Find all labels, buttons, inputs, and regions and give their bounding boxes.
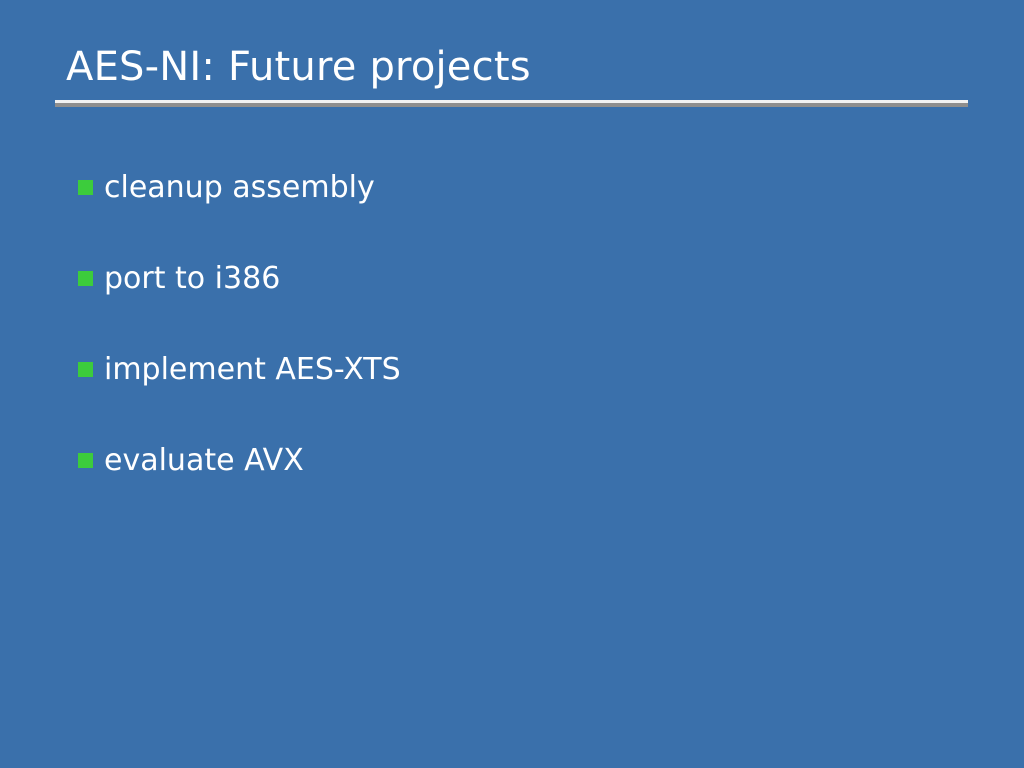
list-item-label: implement AES-XTS xyxy=(104,350,401,390)
list-item: implement AES-XTS xyxy=(78,350,958,441)
square-bullet-icon xyxy=(78,180,93,195)
list-item: evaluate AVX xyxy=(78,441,958,532)
square-bullet-icon xyxy=(78,362,93,377)
title-divider-shadow xyxy=(55,103,968,107)
list-item: port to i386 xyxy=(78,259,958,350)
page-title: AES-NI: Future projects xyxy=(55,38,968,96)
slide-title-block: AES-NI: Future projects xyxy=(55,38,968,96)
list-item-label: cleanup assembly xyxy=(104,168,375,208)
square-bullet-icon xyxy=(78,271,93,286)
bullet-list: cleanup assembly port to i386 implement … xyxy=(78,168,958,532)
title-divider xyxy=(55,100,968,107)
list-item-label: port to i386 xyxy=(104,259,280,299)
list-item: cleanup assembly xyxy=(78,168,958,259)
presentation-slide: AES-NI: Future projects cleanup assembly… xyxy=(0,0,1024,768)
list-item-label: evaluate AVX xyxy=(104,441,304,481)
square-bullet-icon xyxy=(78,453,93,468)
